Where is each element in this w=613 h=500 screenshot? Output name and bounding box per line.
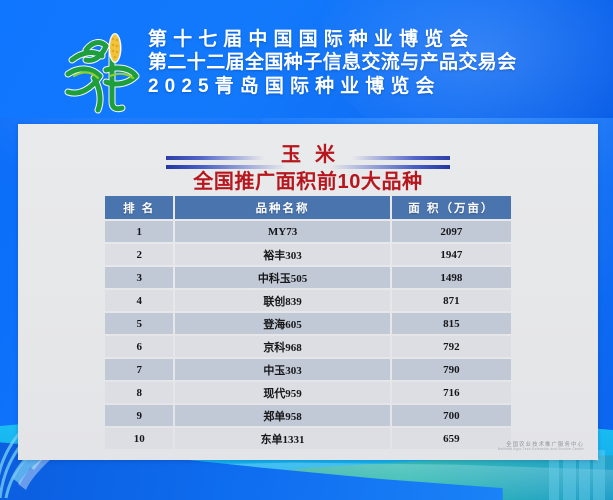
cell-area: 792 (392, 336, 511, 357)
cell-rank: 10 (105, 428, 173, 449)
cell-variety-name: 中玉303 (175, 359, 389, 380)
cell-variety-name: MY73 (175, 221, 389, 242)
banner-line-1: 第十七届中国国际种业博览会 (148, 29, 592, 51)
cell-rank: 4 (105, 290, 173, 311)
cell-area: 700 (392, 405, 511, 426)
banner-line-3: 2025青岛国际种业博览会 (148, 76, 592, 98)
cell-variety-name: 登海605 (175, 313, 389, 334)
seed-sprout-corn-logo-icon (56, 26, 148, 118)
slide-content-area: 玉米 全国推广面积前10大品种 排 名 品种名称 面 积（万亩） 1 MY73 … (18, 124, 598, 460)
table-body: 1 MY73 2097 2 裕丰303 1947 3 中科玉505 1498 4… (105, 221, 511, 449)
banner-title-block: 第十七届中国国际种业博览会 第二十二届全国种子信息交流与产品交易会 2025青岛… (148, 29, 592, 98)
cell-rank: 1 (105, 221, 173, 242)
cell-rank: 5 (105, 313, 173, 334)
banner-line-2: 第二十二届全国种子信息交流与产品交易会 (148, 52, 592, 74)
slide-subtitle: 全国推广面积前10大品种 (18, 165, 598, 194)
watermark-english: National Agro-Tech Extension and Service… (498, 448, 584, 452)
cell-area: 1947 (392, 244, 511, 265)
cell-variety-name: 京科968 (175, 336, 389, 357)
table-row: 8 现代959 716 (105, 382, 511, 403)
cell-rank: 2 (105, 244, 173, 265)
event-banner: 第十七届中国国际种业博览会 第二十二届全国种子信息交流与产品交易会 2025青岛… (0, 0, 613, 118)
cell-area: 790 (392, 359, 511, 380)
cell-variety-name: 裕丰303 (175, 244, 389, 265)
table-row: 4 联创839 871 (105, 290, 511, 311)
cell-area: 1498 (392, 267, 511, 288)
variety-ranking-table: 排 名 品种名称 面 积（万亩） 1 MY73 2097 2 裕丰303 194… (103, 194, 513, 451)
table-row: 6 京科968 792 (105, 336, 511, 357)
cell-variety-name: 东单1331 (175, 428, 389, 449)
cell-area: 659 (392, 428, 511, 449)
table-row: 10 东单1331 659 (105, 428, 511, 449)
cell-variety-name: 现代959 (175, 382, 389, 403)
cell-rank: 8 (105, 382, 173, 403)
table-header-row: 排 名 品种名称 面 积（万亩） (105, 196, 511, 219)
cell-area: 815 (392, 313, 511, 334)
cell-rank: 7 (105, 359, 173, 380)
cell-rank: 9 (105, 405, 173, 426)
cell-variety-name: 中科玉505 (175, 267, 389, 288)
cell-rank: 6 (105, 336, 173, 357)
cell-rank: 3 (105, 267, 173, 288)
slide-title: 玉米 (18, 138, 598, 167)
slide-screenshot: 第十七届中国国际种业博览会 第二十二届全国种子信息交流与产品交易会 2025青岛… (0, 0, 613, 500)
cell-area: 2097 (392, 221, 511, 242)
cell-area: 871 (392, 290, 511, 311)
table-row: 9 郑单958 700 (105, 405, 511, 426)
cell-variety-name: 郑单958 (175, 405, 389, 426)
column-header-rank: 排 名 (105, 196, 173, 219)
table-row: 5 登海605 815 (105, 313, 511, 334)
column-header-variety-name: 品种名称 (175, 196, 389, 219)
table-row: 7 中玉303 790 (105, 359, 511, 380)
table-row: 2 裕丰303 1947 (105, 244, 511, 265)
watermark: 全国农业技术推广服务中心 National Agro-Tech Extensio… (498, 443, 584, 452)
column-header-area: 面 积（万亩） (392, 196, 511, 219)
cell-area: 716 (392, 382, 511, 403)
table-row: 1 MY73 2097 (105, 221, 511, 242)
table-row: 3 中科玉505 1498 (105, 267, 511, 288)
cell-variety-name: 联创839 (175, 290, 389, 311)
